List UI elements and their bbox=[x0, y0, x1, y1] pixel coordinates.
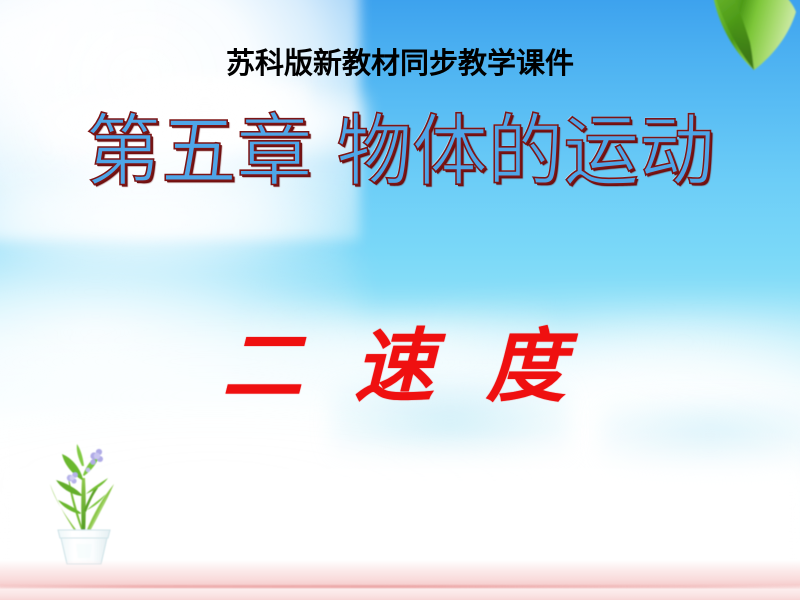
floor-band bbox=[0, 560, 800, 600]
page-subtitle: 二 速 度 bbox=[0, 302, 800, 418]
floor-accent-line bbox=[0, 585, 800, 588]
course-header: 苏科版新教材同步教学课件 bbox=[0, 40, 800, 82]
potted-plant-icon bbox=[36, 436, 132, 566]
page-title: 第五章 物体的运动 bbox=[12, 112, 788, 194]
presentation-slide: 苏科版新教材同步教学课件 第五章 物体的运动 二 速 度 bbox=[0, 0, 800, 600]
